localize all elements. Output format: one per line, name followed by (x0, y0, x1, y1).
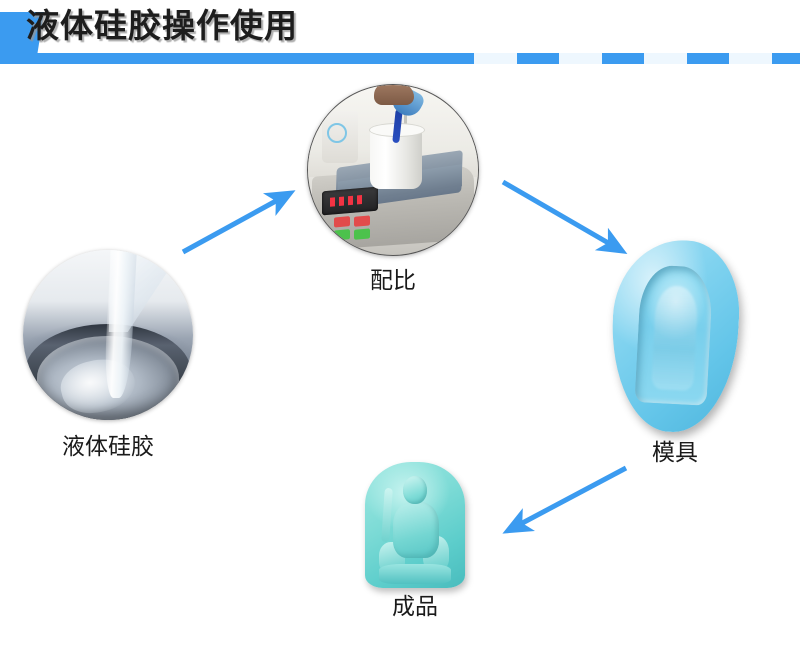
figure-body (393, 502, 439, 558)
node-caption-product: 成品 (340, 592, 490, 622)
scale-key-red-2 (354, 215, 370, 226)
scale-key-green-2 (354, 228, 370, 239)
header-divider (0, 53, 800, 64)
ratio-photo (307, 84, 479, 256)
page-title: 液体硅胶操作使用 (26, 4, 298, 48)
figure-staff (381, 488, 393, 542)
side-jar (322, 111, 358, 163)
scale-key-red-1 (334, 216, 350, 227)
scale-keypad (334, 212, 392, 243)
page-header: 液体硅胶操作使用 (0, 0, 800, 70)
mold-buddha-impression (651, 285, 698, 391)
arrow-liquid-to-ratio (183, 196, 285, 252)
arrow-ratio-to-mold (503, 182, 617, 248)
node-caption-ratio: 配比 (303, 266, 483, 296)
finished-product-photo (365, 462, 465, 588)
figure-base (379, 564, 451, 584)
node-caption-liquid-silicone: 液体硅胶 (18, 432, 198, 462)
slide-root: 液体硅胶操作使用 液体硅胶 (0, 0, 800, 646)
figure-head (403, 476, 427, 504)
header-divider-solid (0, 53, 432, 64)
liquid-silicone-photo (23, 250, 193, 420)
flow-node-product: 成品 (340, 462, 490, 588)
hand (374, 84, 414, 105)
scale-key-green-1 (334, 229, 350, 240)
scale-display (322, 187, 378, 216)
mold-cavity (634, 264, 713, 406)
arrow-mold-to-product (513, 468, 626, 528)
header-divider-dashed (432, 53, 800, 64)
flow-node-ratio: 配比 (303, 84, 483, 256)
silicone-mold-photo (607, 237, 743, 435)
flow-node-mold: 模具 (595, 240, 755, 432)
flow-node-liquid-silicone: 液体硅胶 (18, 250, 198, 420)
node-caption-mold: 模具 (595, 438, 755, 468)
